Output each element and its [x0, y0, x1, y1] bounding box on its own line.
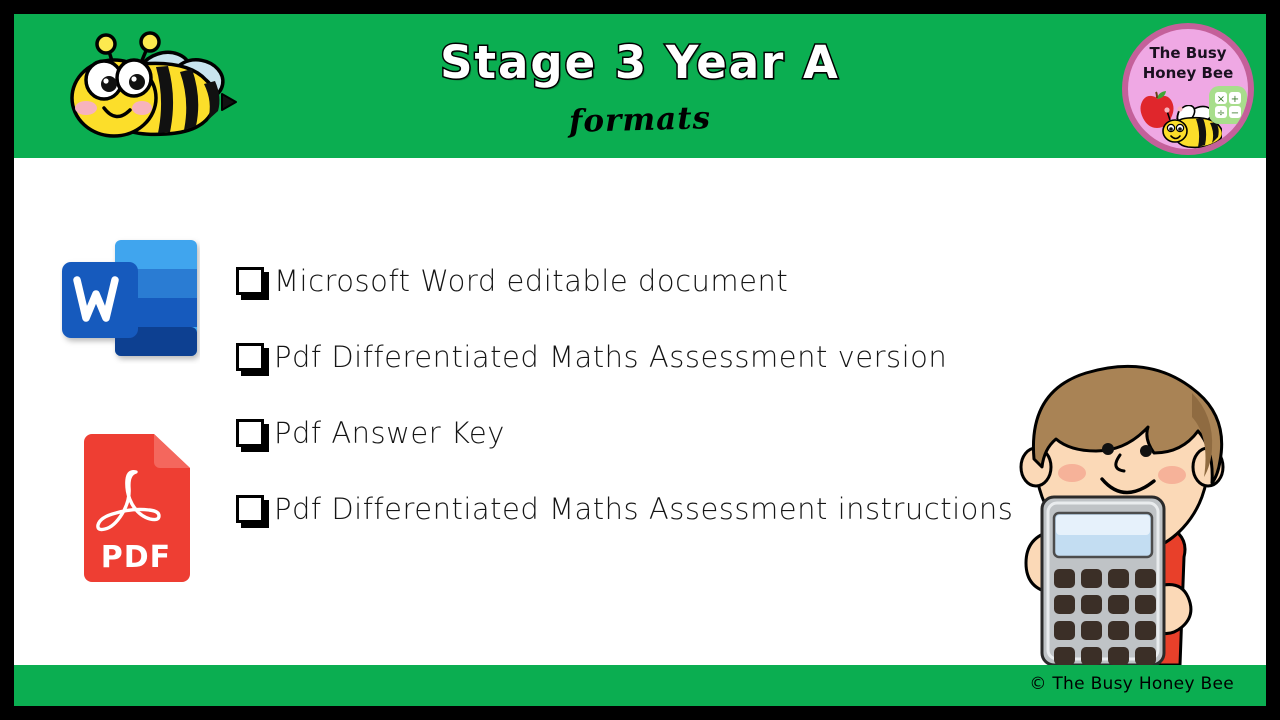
list-item-label: Pdf Differentiated Maths Assessment vers… [274, 334, 947, 380]
slide-canvas: Stage 3 Year A formats The Busy Honey Be… [14, 14, 1266, 706]
brand-logo-inner: The Busy Honey Bee [1128, 29, 1248, 149]
svg-text:÷: ÷ [1217, 108, 1225, 119]
svg-text:+: + [1231, 94, 1239, 105]
list-item[interactable]: Microsoft Word editable document [236, 258, 1236, 334]
checkbox-3[interactable] [236, 495, 264, 523]
content-area: PDF Microsoft Word editable document Pdf… [14, 158, 1266, 665]
brand-logo-line2: Honey Bee [1128, 63, 1248, 83]
svg-text:×: × [1217, 94, 1225, 105]
brand-logo: The Busy Honey Bee [1122, 23, 1254, 155]
footer-bar: © The Busy Honey Bee [14, 665, 1266, 706]
svg-text:PDF: PDF [101, 540, 171, 575]
page-title: Stage 3 Year A [14, 36, 1266, 89]
pdf-file-icon: PDF [76, 434, 194, 586]
checkbox-1[interactable] [236, 343, 264, 371]
list-item-label: Microsoft Word editable document [274, 258, 788, 304]
list-item-label: Pdf Differentiated Maths Assessment inst… [274, 486, 1013, 532]
checkbox-0[interactable] [236, 267, 264, 295]
svg-text:−: − [1231, 108, 1239, 119]
boy-with-calculator-illustration [996, 355, 1246, 665]
brand-logo-line1: The Busy [1128, 43, 1248, 63]
brand-logo-text: The Busy Honey Bee [1128, 43, 1248, 83]
checkbox-2[interactable] [236, 419, 264, 447]
list-item-label: Pdf Answer Key [274, 410, 505, 456]
copyright-text: © The Busy Honey Bee [1029, 674, 1234, 694]
microsoft-word-icon [60, 234, 200, 364]
calculator-icon: × + ÷ − [1208, 85, 1248, 125]
header-bar: Stage 3 Year A formats The Busy Honey Be… [14, 14, 1266, 158]
